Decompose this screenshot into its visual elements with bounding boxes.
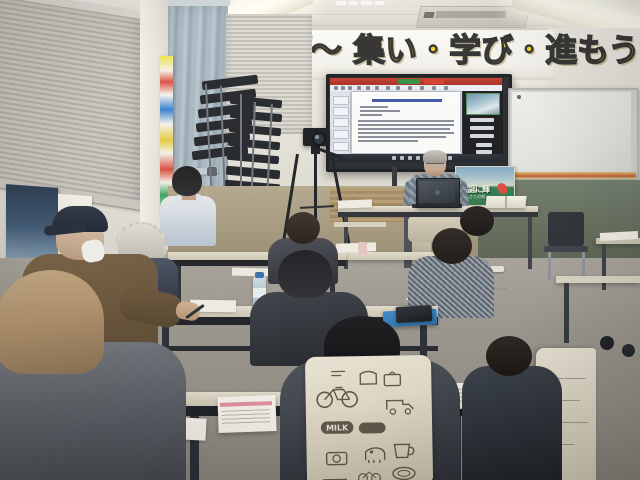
- table-leg: [528, 217, 532, 269]
- attendee-patterned-head: [432, 228, 472, 264]
- pot-icon: [321, 474, 349, 480]
- presenter-table-edge: [338, 212, 538, 217]
- banner-tagline: ～ 集い・学び・進もう～: [310, 34, 640, 66]
- plate-icon: [391, 465, 417, 480]
- desk-leg: [564, 283, 569, 343]
- curtain-rail: [168, 0, 230, 6]
- presenter-hair: [423, 150, 447, 163]
- ribbon-tab[interactable]: [336, 1, 346, 5]
- bicycle-icon: [315, 382, 359, 409]
- ribbon-tab[interactable]: [349, 1, 358, 5]
- attendee-right-front-head: [486, 336, 532, 376]
- laptop-logo: [435, 190, 440, 195]
- attendee-blue-shirt-body: [160, 196, 216, 246]
- camera-lens-glint: [315, 135, 319, 139]
- ribbon-tab[interactable]: [375, 1, 384, 5]
- ribbon-highlight-green: [398, 79, 420, 84]
- ribbon-tab[interactable]: [361, 1, 372, 5]
- sidebar-button[interactable]: [333, 142, 349, 151]
- paper-cup: [358, 242, 367, 255]
- vent-slot: [435, 11, 506, 18]
- svg-text:MILK: MILK: [326, 423, 349, 432]
- attendee-blonde-hair: [0, 270, 104, 374]
- stack-of-papers: [338, 199, 372, 208]
- sidebar-button[interactable]: [333, 107, 349, 116]
- photo-thumbnail[interactable]: [466, 93, 500, 115]
- bread-icon: [357, 368, 379, 386]
- sidebar-button[interactable]: [333, 96, 349, 105]
- caster-wheel: [600, 336, 614, 350]
- ribbon-highlight-red: [424, 79, 444, 84]
- window-blinds-left: [0, 0, 142, 212]
- chair-leg: [548, 252, 551, 280]
- bottle-cap: [255, 272, 264, 278]
- camera-icon: [325, 448, 349, 466]
- whiteboard-magnet: [517, 95, 521, 99]
- attendee-right-front-body: [462, 366, 562, 480]
- label-pill-icon: [358, 422, 386, 434]
- bag-icon: [381, 369, 403, 387]
- milk-label-icon: MILK: [320, 420, 354, 435]
- document-heading: [372, 99, 442, 102]
- truck-icon: [386, 395, 416, 416]
- desk-leg: [602, 244, 606, 290]
- attendee-blue-shirt-head: [172, 166, 202, 196]
- cow-icon: [362, 444, 388, 464]
- caster-wheel: [622, 344, 635, 357]
- presenter-glasses: [426, 163, 444, 167]
- printed-tote-bag: MILK: [305, 355, 433, 480]
- chair-backrest: [548, 212, 584, 246]
- coffee-icon: [390, 439, 416, 461]
- right-desk: [556, 276, 640, 283]
- printed-worksheet: [336, 242, 376, 252]
- bicycle-small-icon: [357, 468, 383, 480]
- script-text-icon: [329, 366, 349, 380]
- whiteboard[interactable]: [512, 92, 631, 172]
- book-spine: [505, 196, 507, 208]
- vent-knob: [423, 12, 434, 18]
- worksheet-text-lines: [222, 409, 271, 427]
- marker-tray: [508, 172, 636, 180]
- sidebar-button[interactable]: [333, 118, 349, 127]
- attendee-black-shirt-head: [278, 250, 332, 298]
- sidebar-button[interactable]: [333, 130, 349, 139]
- camera-lens-icon: [312, 132, 326, 146]
- tablet-device[interactable]: [396, 305, 433, 323]
- side-table: [334, 222, 386, 227]
- classroom-photo-scene: 力 ～ 集い・学び・進もう～: [0, 0, 640, 480]
- attendee-dark-shirt-head: [286, 212, 320, 244]
